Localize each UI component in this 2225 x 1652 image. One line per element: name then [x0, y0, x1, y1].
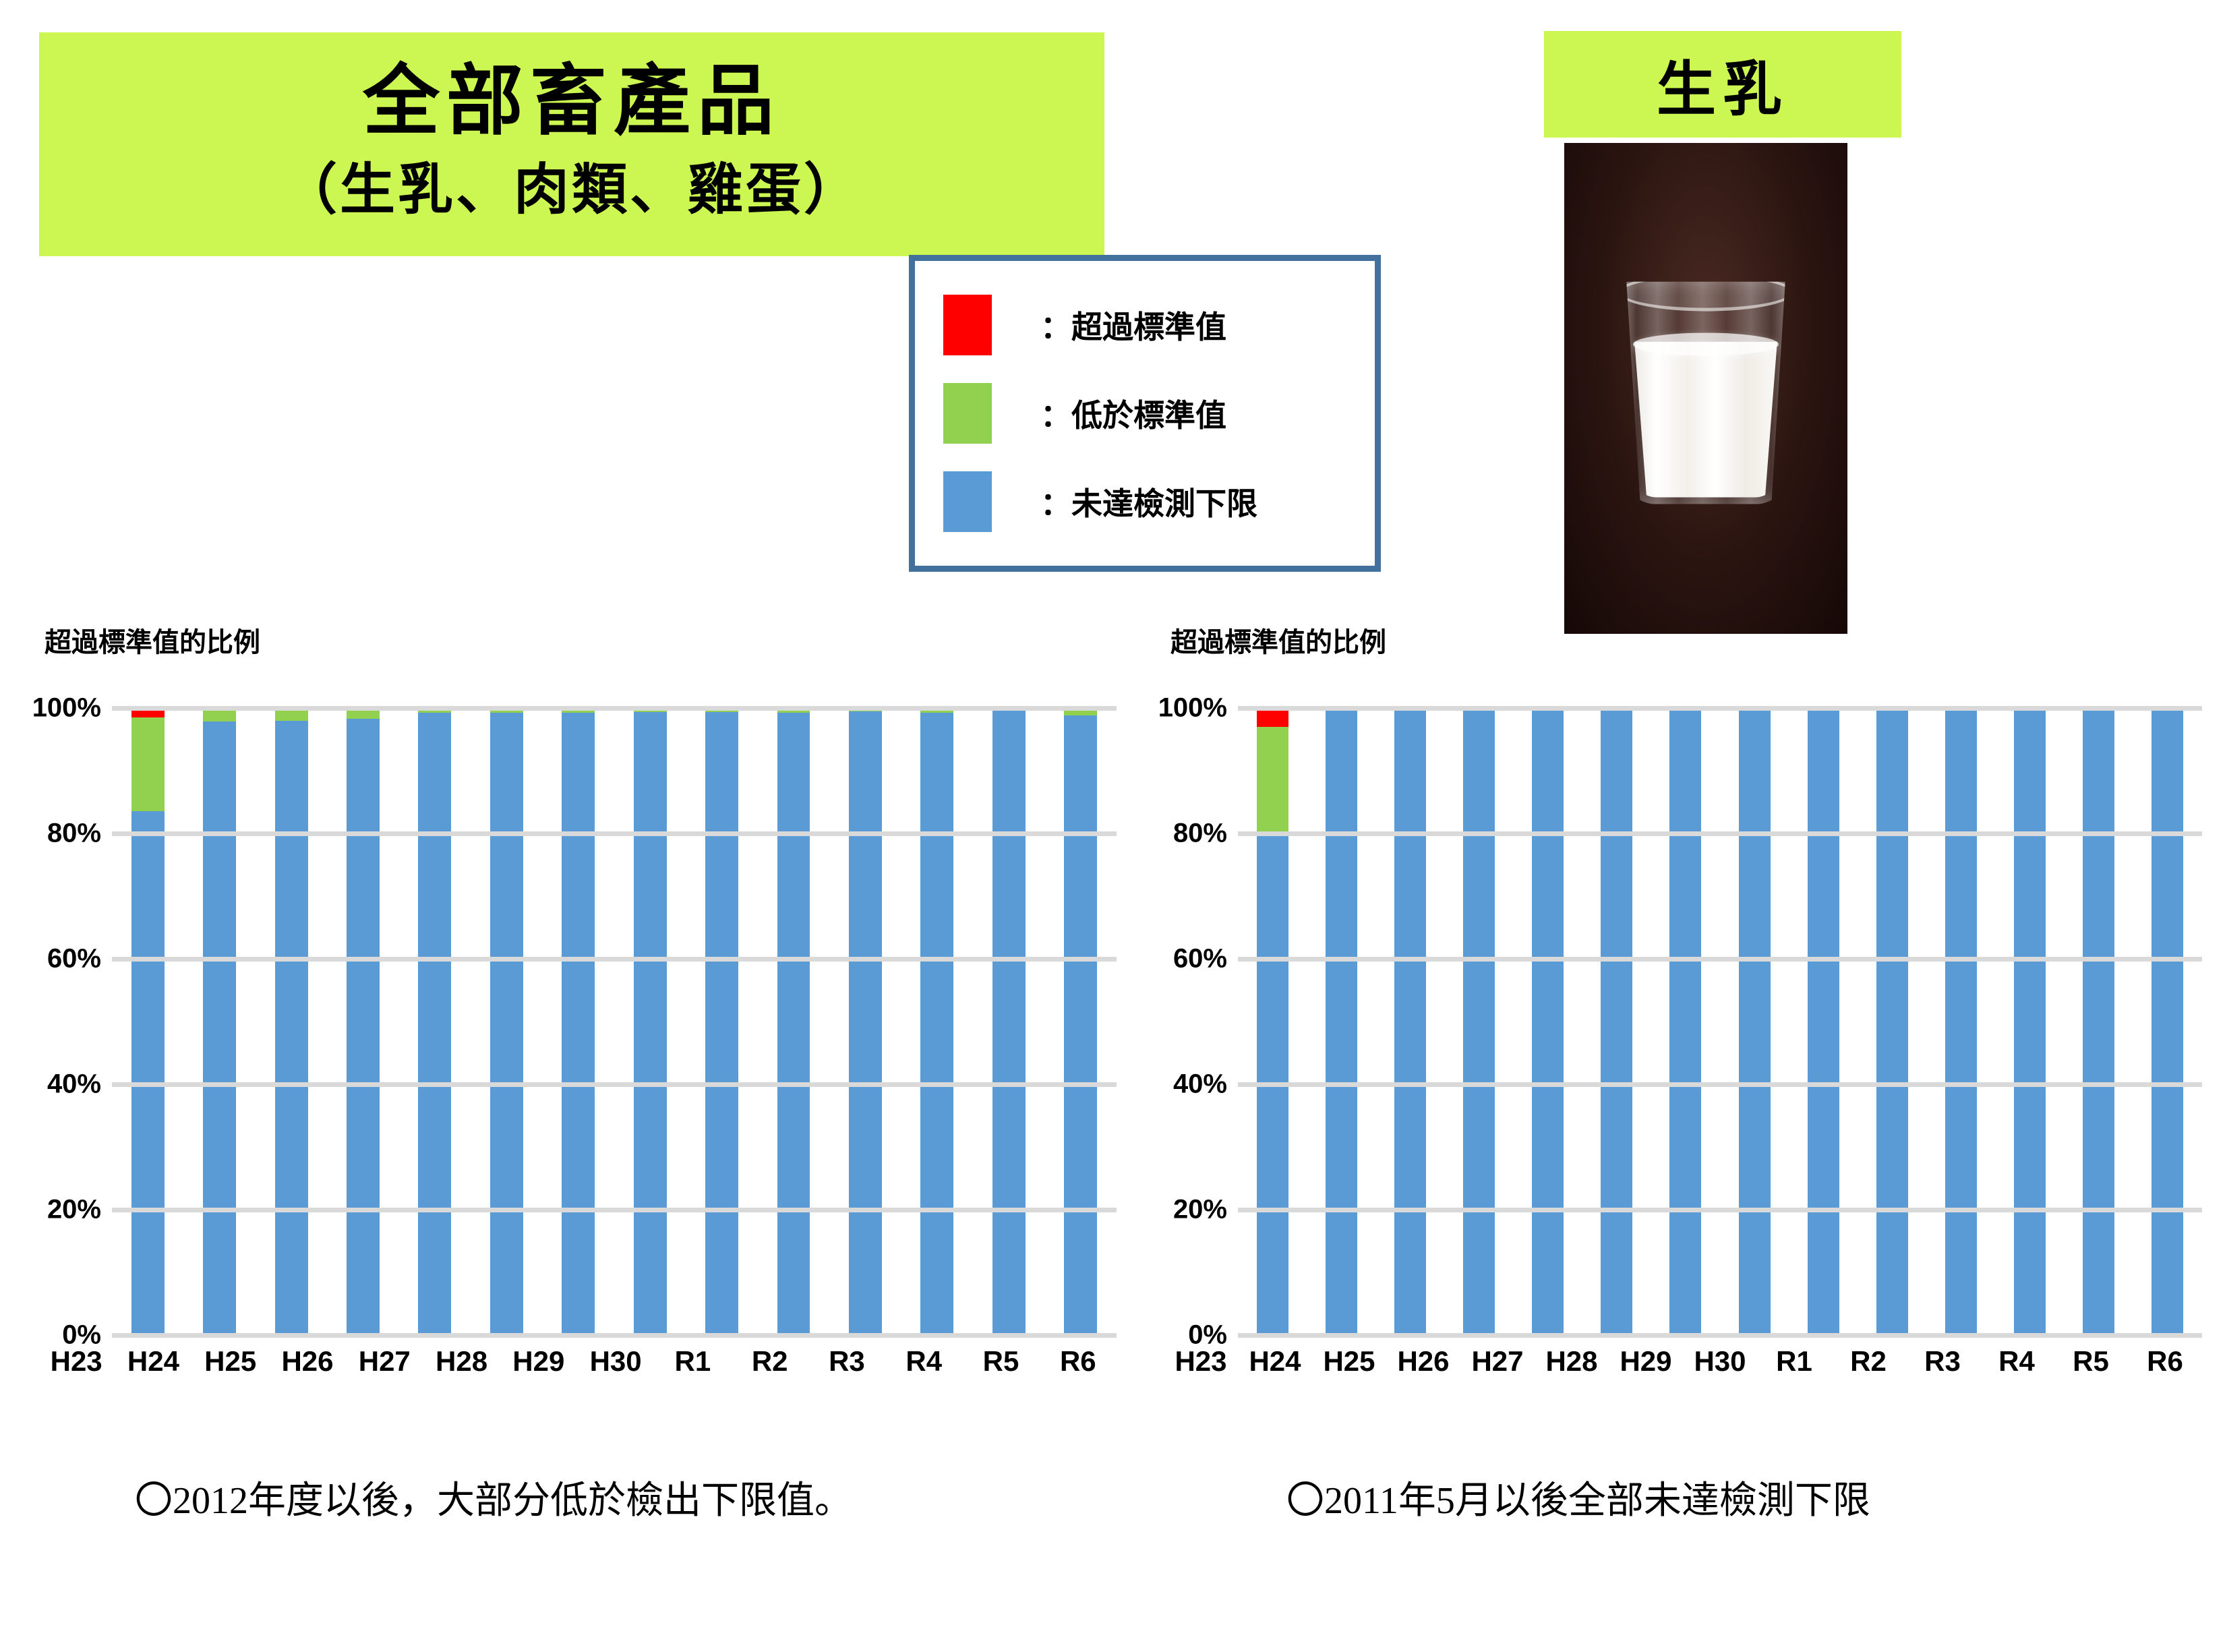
chart-all-livestock-products: 0%20%40%60%80%100%: [38, 708, 1117, 1335]
x-tick-left-R4: R4: [885, 1345, 962, 1378]
bar-segment-低於標準值: [1064, 710, 1097, 715]
bar-segment-未達檢測下限: [1463, 708, 1495, 1335]
bar-slot-right-H24[interactable]: [1307, 708, 1375, 1335]
stacked-bar[interactable]: [418, 708, 451, 1335]
gridline-left-20: [112, 1208, 1117, 1212]
stacked-bar[interactable]: [1669, 708, 1701, 1335]
bar-slot-right-R3[interactable]: [1926, 708, 1995, 1335]
x-tick-right-H23: H23: [1164, 1345, 1238, 1378]
bar-slot-right-H30[interactable]: [1720, 708, 1789, 1335]
x-tick-right-R3: R3: [1905, 1345, 1980, 1378]
title-banner-raw-milk: 生乳: [1544, 31, 1901, 138]
bar-slot-right-R2[interactable]: [1858, 708, 1926, 1335]
y-tick-left-80: 80%: [47, 819, 101, 849]
raw-milk-title: 生乳: [1657, 42, 1789, 127]
stacked-bar[interactable]: [203, 708, 236, 1335]
x-tick-left-R5: R5: [962, 1345, 1039, 1378]
bar-segment-未達檢測下限: [131, 811, 165, 1335]
bar-slot-left-H28[interactable]: [471, 708, 542, 1335]
bar-segment-未達檢測下限: [2083, 708, 2114, 1335]
bar-group-right: [1238, 708, 2202, 1335]
stacked-bar[interactable]: [920, 708, 953, 1335]
x-tick-left-H29: H29: [500, 1345, 577, 1378]
x-tick-right-H29: H29: [1609, 1345, 1683, 1378]
gridline-left-0: [112, 1333, 1117, 1338]
stacked-bar[interactable]: [1601, 708, 1632, 1335]
bar-segment-未達檢測下限: [418, 713, 451, 1335]
stacked-bar[interactable]: [1876, 708, 1908, 1335]
stacked-bar[interactable]: [562, 708, 595, 1335]
x-tick-right-H27: H27: [1460, 1345, 1535, 1378]
bar-slot-left-H30[interactable]: [614, 708, 686, 1335]
y-tick-right-20: 20%: [1173, 1195, 1227, 1225]
stacked-bar[interactable]: [2014, 708, 2046, 1335]
stacked-bar[interactable]: [992, 708, 1026, 1335]
legend-item-below-detection-limit: ：未達檢測下限: [943, 468, 1375, 535]
bar-slot-left-R6[interactable]: [1044, 708, 1116, 1335]
bar-segment-未達檢測下限: [1532, 708, 1564, 1335]
bar-segment-未達檢測下限: [347, 719, 380, 1335]
bar-segment-未達檢測下限: [2152, 708, 2183, 1335]
x-tick-left-R3: R3: [808, 1345, 885, 1378]
bar-slot-right-R1[interactable]: [1789, 708, 1858, 1335]
chart-title-all-products: 超過標準值的比例: [44, 620, 260, 659]
stacked-bar[interactable]: [777, 708, 810, 1335]
legend-item-under-standard: ：低於標準值: [943, 380, 1375, 447]
bar-slot-left-R4[interactable]: [901, 708, 973, 1335]
bar-segment-未達檢測下限: [1326, 708, 1357, 1335]
bar-slot-left-H26[interactable]: [327, 708, 398, 1335]
x-tick-right-H24: H24: [1238, 1345, 1312, 1378]
gridline-right-100: [1238, 706, 2202, 711]
x-axis-right: H23H24H25H26H27H28H29H30R1R2R3R4R5R6: [1164, 1345, 2202, 1378]
bar-segment-未達檢測下限: [1739, 708, 1771, 1335]
bar-segment-低於標準值: [131, 717, 165, 812]
bar-slot-right-H23[interactable]: [1238, 708, 1307, 1335]
milk-glass-illustration: [1620, 282, 1792, 504]
x-tick-left-H30: H30: [577, 1345, 654, 1378]
legend-label-over-standard: ：超過標準值: [1040, 303, 1226, 347]
y-tick-right-100: 100%: [1158, 693, 1227, 724]
stacked-bar[interactable]: [1257, 708, 1288, 1335]
bar-segment-未達檢測下限: [1876, 708, 1908, 1335]
bar-slot-left-H29[interactable]: [543, 708, 614, 1335]
bar-segment-未達檢測下限: [1601, 708, 1632, 1335]
legend-swatch-green-icon: [943, 383, 992, 444]
note-left: 〇2012年度以後，大部分低於檢出下限值。: [135, 1470, 852, 1525]
bar-segment-未達檢測下限: [275, 721, 308, 1335]
gridline-right-20: [1238, 1208, 2202, 1212]
bar-segment-未達檢測下限: [203, 721, 236, 1335]
bar-segment-未達檢測下限: [992, 711, 1026, 1335]
stacked-bar[interactable]: [1808, 708, 1839, 1335]
gridline-right-80: [1238, 831, 2202, 836]
bar-segment-未達檢測下限: [705, 712, 738, 1335]
bar-slot-left-R1[interactable]: [686, 708, 757, 1335]
stacked-bar[interactable]: [131, 708, 165, 1335]
x-tick-right-H30: H30: [1683, 1345, 1757, 1378]
legend-label-under-standard: ：低於標準值: [1040, 391, 1226, 436]
chart-raw-milk: 0%20%40%60%80%100%: [1164, 708, 2202, 1335]
x-axis-left: H23H24H25H26H27H28H29H30R1R2R3R4R5R6: [38, 1345, 1117, 1378]
bar-slot-left-H23[interactable]: [112, 708, 183, 1335]
stacked-bar[interactable]: [275, 708, 308, 1335]
x-tick-right-H25: H25: [1312, 1345, 1386, 1378]
bar-slot-left-H24[interactable]: [183, 708, 255, 1335]
gridline-left-100: [112, 706, 1117, 711]
x-tick-right-R6: R6: [2128, 1345, 2202, 1378]
x-tick-right-R4: R4: [1980, 1345, 2054, 1378]
bar-segment-未達檢測下限: [1945, 708, 1977, 1335]
legend-item-over-standard: ：超過標準值: [943, 291, 1375, 359]
stacked-bar[interactable]: [705, 708, 738, 1335]
bar-segment-未達檢測下限: [490, 713, 523, 1335]
stacked-bar[interactable]: [347, 708, 380, 1335]
stacked-bar[interactable]: [2152, 708, 2183, 1335]
x-tick-right-R5: R5: [2054, 1345, 2128, 1378]
bar-segment-未達檢測下限: [1669, 708, 1701, 1335]
note-right: 〇2011年5月以後全部未達檢測下限: [1286, 1470, 1870, 1525]
bar-segment-未達檢測下限: [634, 712, 667, 1335]
x-tick-left-H25: H25: [192, 1345, 269, 1378]
raw-milk-photo: [1564, 143, 1847, 634]
bar-segment-未達檢測下限: [1064, 715, 1097, 1335]
bar-segment-超過標準值: [1257, 708, 1288, 727]
bar-segment-未達檢測下限: [920, 713, 953, 1335]
x-tick-left-R6: R6: [1040, 1345, 1117, 1378]
stacked-bar[interactable]: [1463, 708, 1495, 1335]
gridline-left-60: [112, 957, 1117, 962]
stacked-bar[interactable]: [1945, 708, 1977, 1335]
milk-fill: [1630, 342, 1781, 498]
bar-slot-right-H26[interactable]: [1444, 708, 1513, 1335]
gridline-left-80: [112, 831, 1117, 836]
bar-group-left: [112, 708, 1117, 1335]
bar-slot-left-R5[interactable]: [973, 708, 1044, 1335]
bar-slot-right-R6[interactable]: [2133, 708, 2202, 1335]
bar-segment-未達檢測下限: [849, 711, 882, 1335]
y-tick-left-40: 40%: [47, 1069, 101, 1100]
y-tick-left-60: 60%: [47, 944, 101, 974]
stacked-bar[interactable]: [490, 708, 523, 1335]
glass-rim: [1618, 274, 1793, 312]
bar-slot-right-R4[interactable]: [1996, 708, 2065, 1335]
plot-area-right: [1238, 708, 2202, 1335]
glass-body: [1620, 282, 1792, 504]
bar-slot-left-H27[interactable]: [399, 708, 471, 1335]
bar-segment-未達檢測下限: [777, 713, 810, 1335]
bar-slot-right-R5[interactable]: [2065, 708, 2133, 1335]
x-tick-left-H27: H27: [346, 1345, 423, 1378]
x-tick-right-H26: H26: [1386, 1345, 1460, 1378]
bar-segment-未達檢測下限: [1394, 708, 1426, 1335]
y-axis-right: 0%20%40%60%80%100%: [1164, 708, 1238, 1335]
y-tick-right-40: 40%: [1173, 1069, 1227, 1100]
bar-slot-right-H27[interactable]: [1514, 708, 1582, 1335]
bar-slot-left-H25[interactable]: [256, 708, 327, 1335]
y-tick-left-100: 100%: [32, 693, 101, 724]
stacked-bar[interactable]: [2083, 708, 2114, 1335]
y-axis-left: 0%20%40%60%80%100%: [38, 708, 112, 1335]
stacked-bar[interactable]: [849, 708, 882, 1335]
y-tick-right-80: 80%: [1173, 819, 1227, 849]
stacked-bar[interactable]: [1739, 708, 1771, 1335]
x-tick-right-H28: H28: [1535, 1345, 1609, 1378]
x-tick-left-H28: H28: [423, 1345, 500, 1378]
plot-area-left: [112, 708, 1117, 1335]
x-tick-left-R2: R2: [732, 1345, 808, 1378]
bar-segment-未達檢測下限: [2014, 708, 2046, 1335]
legend-swatch-red-icon: [943, 295, 992, 355]
x-tick-left-R1: R1: [654, 1345, 731, 1378]
gridline-right-60: [1238, 957, 2202, 962]
stacked-bar[interactable]: [1326, 708, 1357, 1335]
bar-segment-未達檢測下限: [1808, 708, 1839, 1335]
page-title-main: 全部畜產品: [363, 61, 781, 142]
bar-slot-right-H28[interactable]: [1582, 708, 1651, 1335]
x-tick-right-R2: R2: [1831, 1345, 1905, 1378]
bar-slot-left-R2[interactable]: [758, 708, 829, 1335]
stacked-bar[interactable]: [1394, 708, 1426, 1335]
stacked-bar[interactable]: [1064, 708, 1097, 1335]
gridline-left-40: [112, 1082, 1117, 1087]
x-tick-right-R1: R1: [1757, 1345, 1831, 1378]
bar-slot-right-H29[interactable]: [1651, 708, 1720, 1335]
stacked-bar[interactable]: [1532, 708, 1564, 1335]
chart-title-raw-milk: 超過標準值的比例: [1170, 620, 1386, 659]
page-title-sub: （生乳、肉類、雞蛋）: [282, 157, 862, 223]
legend-swatch-blue-icon: [943, 471, 992, 532]
milk-surface: [1633, 332, 1778, 355]
gridline-right-40: [1238, 1082, 2202, 1087]
chart-legend: ：超過標準值 ：低於標準值 ：未達檢測下限: [909, 255, 1381, 572]
x-tick-left-H23: H23: [38, 1345, 115, 1378]
y-tick-right-60: 60%: [1173, 944, 1227, 974]
bar-slot-left-R3[interactable]: [829, 708, 901, 1335]
x-tick-left-H24: H24: [115, 1345, 191, 1378]
bar-slot-right-H25[interactable]: [1375, 708, 1444, 1335]
stacked-bar[interactable]: [634, 708, 667, 1335]
bar-segment-低於標準值: [1257, 727, 1288, 833]
x-tick-left-H26: H26: [269, 1345, 346, 1378]
bar-segment-未達檢測下限: [562, 713, 595, 1335]
title-banner-all-products: 全部畜產品 （生乳、肉類、雞蛋）: [39, 32, 1104, 256]
y-tick-left-20: 20%: [47, 1195, 101, 1225]
gridline-right-0: [1238, 1333, 2202, 1338]
legend-label-below-detection-limit: ：未達檢測下限: [1040, 479, 1257, 524]
